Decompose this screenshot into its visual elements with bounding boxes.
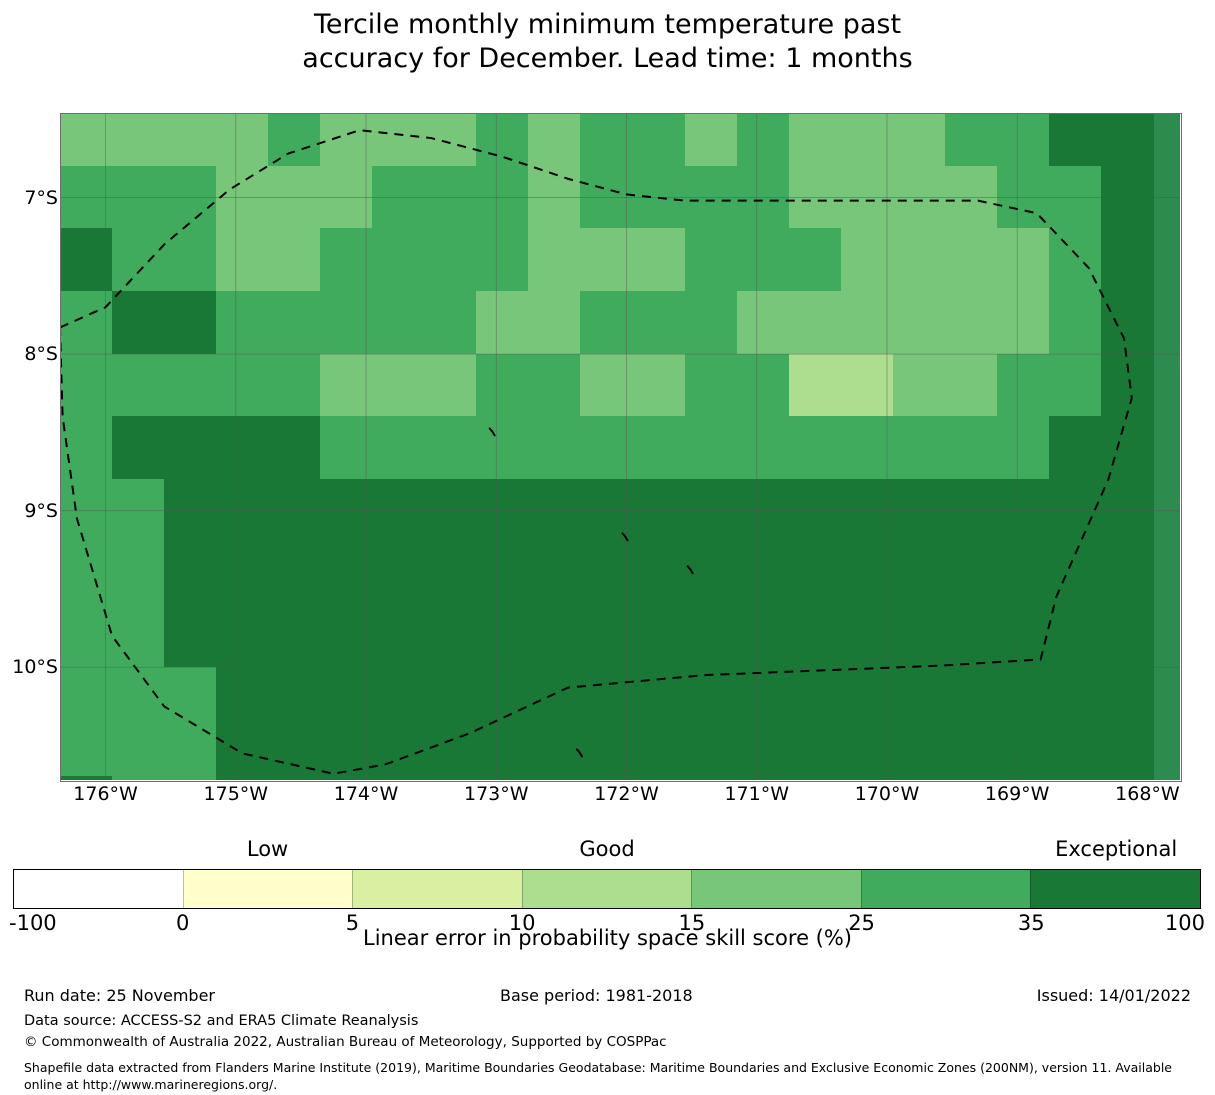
x-tick-label: 172°W: [594, 785, 659, 804]
colorbar-axis-title: Linear error in probability space skill …: [0, 926, 1215, 950]
footer-top-row: Run date: 25 November Base period: 1981-…: [0, 985, 1215, 1007]
eez-boundary-line: [60, 130, 1132, 774]
x-tick-label: 173°W: [464, 785, 529, 804]
colorbar-category-label: Low: [247, 839, 288, 860]
x-tick-label: 174°W: [334, 785, 399, 804]
colorbar-container[interactable]: -1000510152535100 LowGoodExceptional: [13, 869, 1201, 909]
footer-shapefile-credit: Shapefile data extracted from Flanders M…: [24, 1059, 1199, 1093]
y-tick-label: 7°S: [24, 189, 58, 208]
map-overlay-layer: [60, 113, 1180, 780]
colorbar-category-label: Exceptional: [1055, 839, 1177, 860]
colorbar-segment: [1030, 870, 1200, 908]
footer: Run date: 25 November Base period: 1981-…: [0, 985, 1215, 1095]
x-tick-label: 175°W: [204, 785, 269, 804]
footer-base-period: Base period: 1981-2018: [500, 985, 693, 1007]
colorbar-segment: [14, 870, 183, 908]
y-tick-label: 9°S: [24, 502, 58, 521]
atoll-mark-3: [688, 566, 693, 573]
x-tick-label: 168°W: [1115, 785, 1180, 804]
gridlines-group: [60, 113, 1180, 780]
footer-copyright: © Commonwealth of Australia 2022, Austra…: [24, 1032, 667, 1052]
heatmap-map-panel[interactable]: [60, 113, 1180, 780]
y-tick-label: 10°S: [12, 658, 58, 677]
footer-data-source: Data source: ACCESS-S2 and ERA5 Climate …: [24, 1011, 418, 1031]
x-tick-label: 176°W: [73, 785, 138, 804]
atoll-mark-1: [490, 428, 495, 435]
colorbar-segment: [861, 870, 1031, 908]
colorbar-segment: [522, 870, 692, 908]
x-tick-label: 171°W: [724, 785, 789, 804]
island-marks-group: [490, 428, 693, 756]
y-tick-label: 8°S: [24, 345, 58, 364]
colorbar-segment: [352, 870, 522, 908]
footer-issued-date: Issued: 14/01/2022: [1037, 985, 1191, 1007]
colorbar-gradient[interactable]: [13, 869, 1201, 909]
atoll-mark-4: [577, 749, 582, 756]
colorbar-category-label: Good: [579, 839, 634, 860]
eez-boundary-polyline: [60, 130, 1132, 774]
x-tick-label: 170°W: [855, 785, 920, 804]
page-title: Tercile monthly minimum temperature past…: [0, 8, 1215, 76]
x-tick-label: 169°W: [985, 785, 1050, 804]
footer-run-date: Run date: 25 November: [24, 985, 215, 1007]
colorbar-segment: [183, 870, 353, 908]
colorbar-segment: [691, 870, 861, 908]
